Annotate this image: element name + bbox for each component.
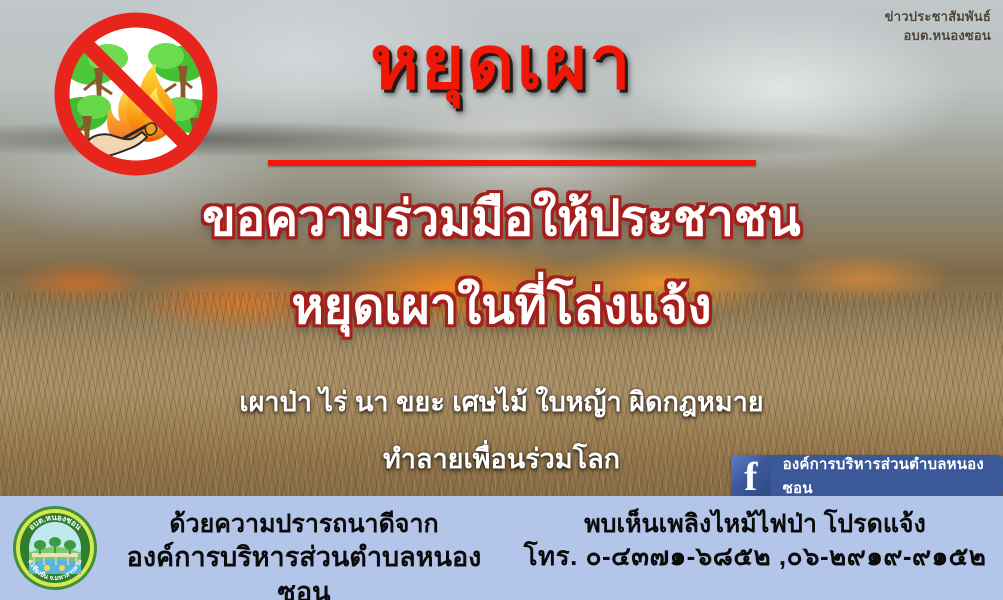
slogan-line-1: ขอความร่วมมือให้ประชาชน (0, 192, 1003, 247)
footer-left-line-2: องค์การบริหารส่วนตำบลหนองซอน (104, 540, 504, 600)
facebook-page-name[interactable]: องค์การบริหารส่วนตำบลหนองซอน (771, 455, 1003, 497)
subtext-line-1: เผาป่า ไร่ นา ขยะ เศษไม้ ใบหญ้า ผิดกฎหมา… (0, 386, 1003, 418)
facebook-f-glyph: f (731, 456, 771, 497)
headline: หยุดเผา (0, 26, 1003, 100)
poster-canvas: ข่าวประชาสัมพันธ์ อบต.หนองซอน หยุดเผา ขอ… (0, 0, 1003, 600)
footer-phone-number: โทร. ๐-๔๓๗๑-๖๘๕๒ ,๐๖-๒๙๑๙-๙๑๕๒ (520, 540, 990, 573)
footer-right-text: พบเห็นเพลิงไหม้ไฟป่า โปรดแจ้ง โทร. ๐-๔๓๗… (520, 508, 990, 573)
footer-right-line-1: พบเห็นเพลิงไหม้ไฟป่า โปรดแจ้ง (520, 508, 990, 540)
kicker-line-1: ข่าวประชาสัมพันธ์ (885, 9, 991, 24)
facebook-badge[interactable]: f องค์การบริหารส่วนตำบลหนองซอน (731, 455, 1003, 497)
red-divider (268, 160, 756, 166)
footer-band: อบต.หนองซอน อ.เชียงยืน จ.มหาสารคาม ด้วยค… (0, 496, 1003, 600)
footer-left-text: ด้วยความปรารถนาดีจาก องค์การบริหารส่วนตำ… (104, 508, 504, 600)
facebook-icon[interactable]: f (731, 455, 771, 497)
organization-seal: อบต.หนองซอน อ.เชียงยืน จ.มหาสารคาม (12, 505, 98, 591)
footer-left-line-1: ด้วยความปรารถนาดีจาก (104, 508, 504, 540)
slogan-line-2: หยุดเผาในที่โล่งแจ้ง (0, 280, 1003, 335)
